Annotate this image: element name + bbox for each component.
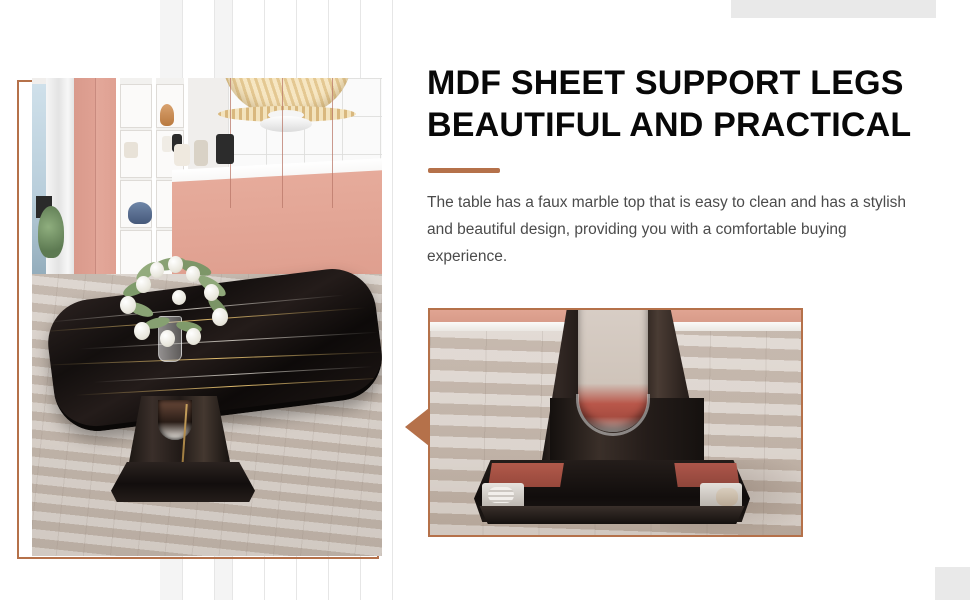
product-photo-right-frame [428, 308, 803, 537]
title-divider [428, 168, 500, 173]
body-copy: The table has a faux marble top that is … [427, 189, 919, 270]
product-photo-right [430, 310, 801, 535]
text-block: MDF SHEET SUPPORT LEGSBEAUTIFUL AND PRAC… [427, 62, 942, 270]
product-photo-left [32, 78, 382, 556]
product-photo-left-frame [17, 80, 379, 559]
stripe-line [392, 0, 393, 600]
left-arrow-icon [405, 408, 429, 446]
decor-block-top-right [731, 0, 936, 18]
headline-line-2: BEAUTIFUL AND PRACTICAL [427, 106, 911, 144]
decor-block-bottom-right [935, 567, 970, 600]
page-title: MDF SHEET SUPPORT LEGSBEAUTIFUL AND PRAC… [427, 62, 942, 146]
headline-line-1: MDF SHEET SUPPORT LEGS [427, 64, 904, 102]
product-infographic-canvas: MDF SHEET SUPPORT LEGSBEAUTIFUL AND PRAC… [0, 0, 970, 600]
